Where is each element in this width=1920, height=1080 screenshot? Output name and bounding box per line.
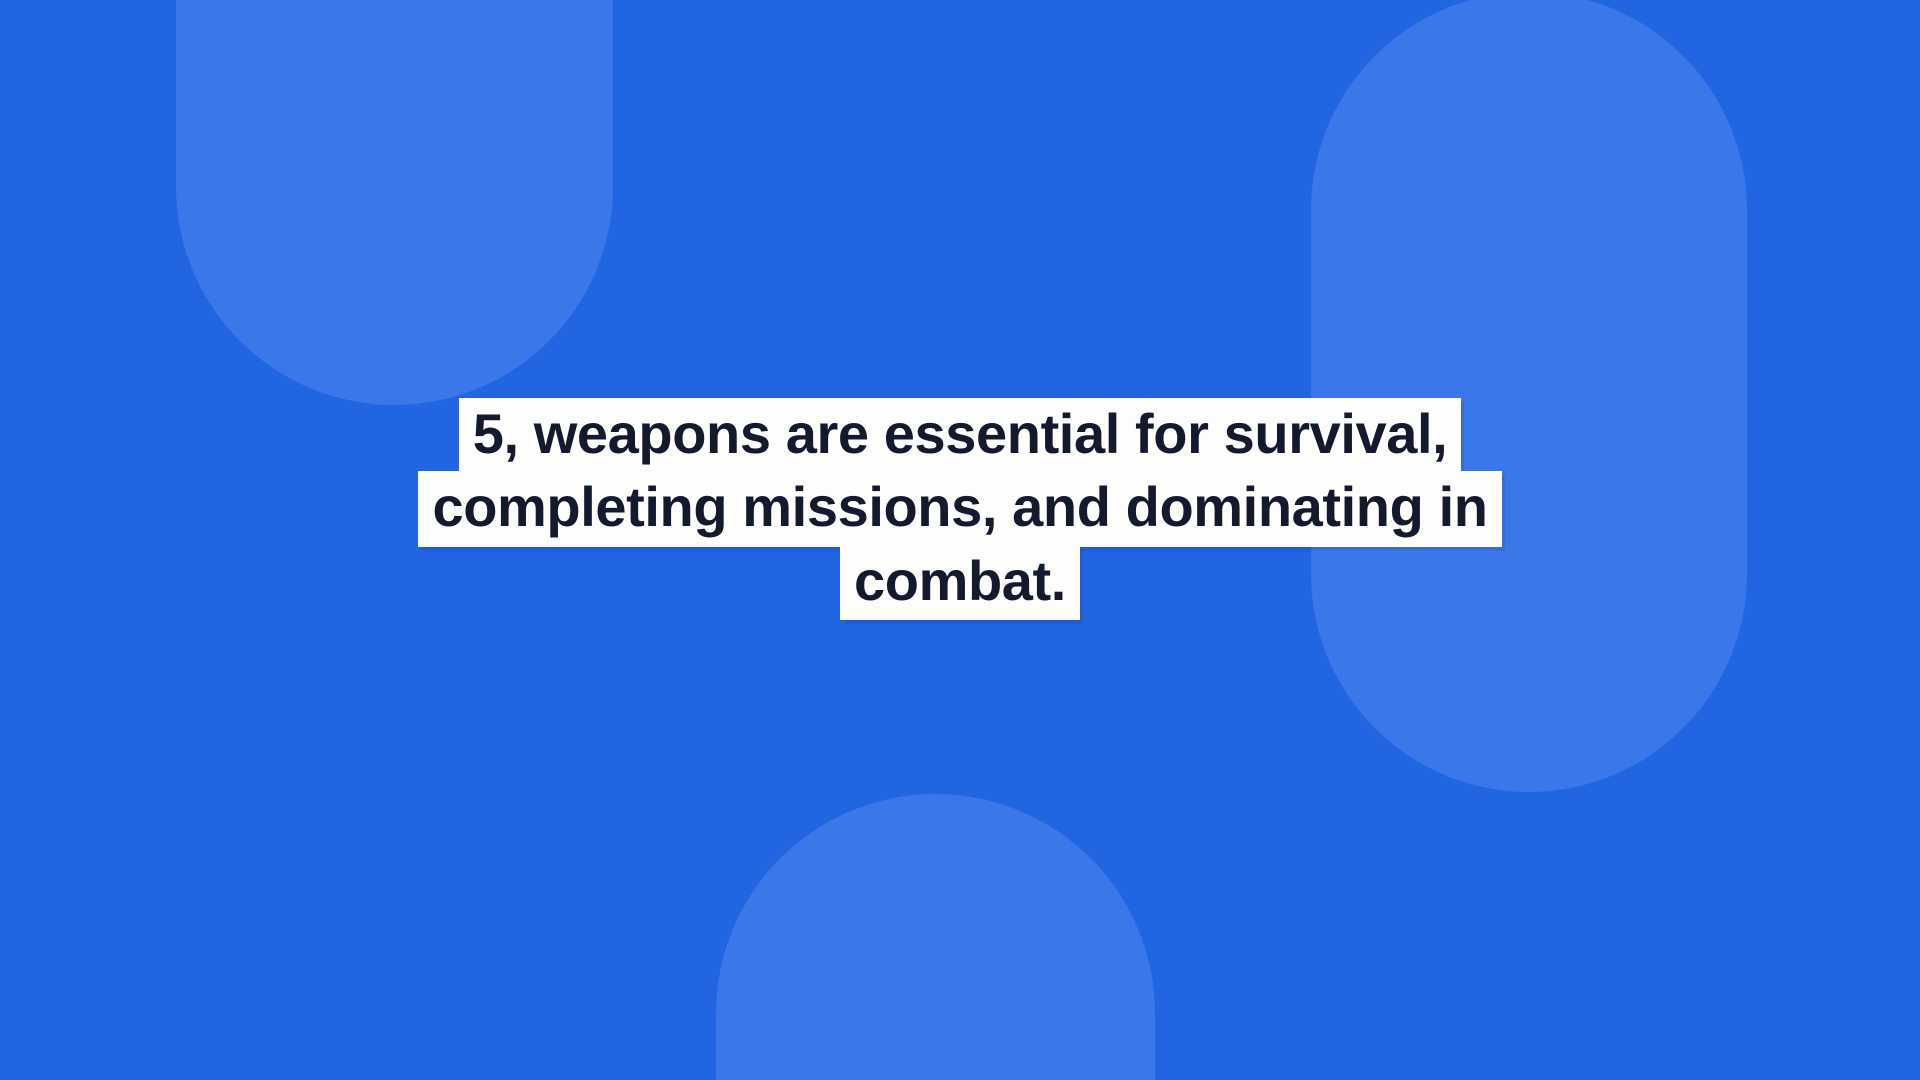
caption-line-1: 5, weapons are essential for survival, <box>459 398 1462 473</box>
caption-line-2: completing missions, and dominating in <box>418 471 1501 546</box>
decorative-left-pill-shape <box>176 0 613 405</box>
decorative-right-pill-shape <box>1311 0 1747 792</box>
decorative-bottom-arch-shape <box>716 794 1155 1080</box>
video-caption-slide: 5, weapons are essential for survival, c… <box>0 0 1920 1080</box>
caption-text-block: 5, weapons are essential for survival, c… <box>0 398 1920 620</box>
caption-line-3: combat. <box>840 545 1080 620</box>
